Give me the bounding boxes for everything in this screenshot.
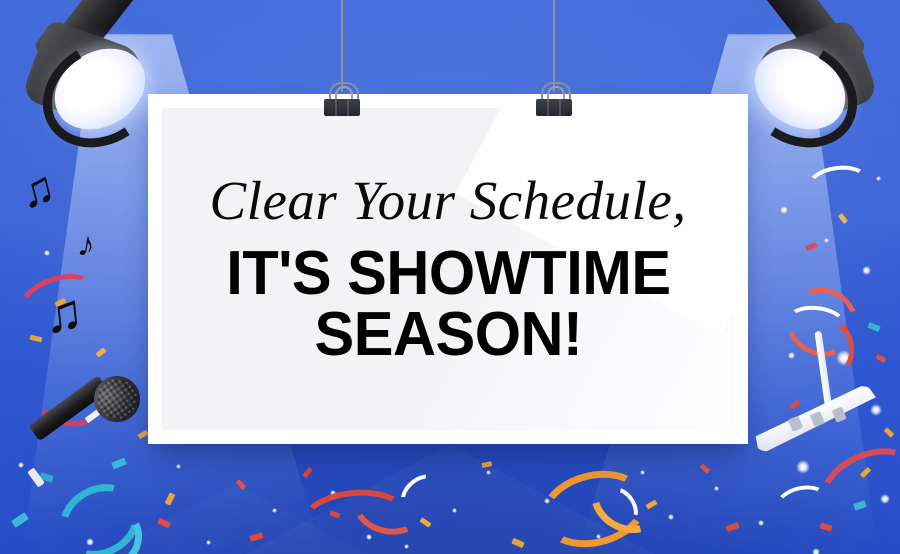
banner-panel: Clear Your Schedule, IT'S SHOWTIME SEASO… — [162, 108, 734, 430]
clip-body — [324, 99, 360, 116]
banner-poster: Clear Your Schedule, IT'S SHOWTIME SEASO… — [148, 94, 748, 444]
sparkle-dot — [788, 352, 795, 359]
sparkle-dot — [876, 176, 881, 181]
sparkle-dot — [452, 508, 457, 513]
sparkle-dot — [272, 508, 277, 513]
headline-bold-line1: IT'S SHOWTIME — [226, 239, 670, 308]
sparkle-dot — [668, 514, 674, 520]
microphone-icon — [32, 372, 152, 482]
spotlight-icon — [700, 0, 890, 129]
sparkle-dot — [44, 250, 50, 256]
spotlight-icon — [10, 0, 200, 129]
sparkle-dot — [486, 470, 491, 475]
sparkle-dot — [404, 544, 409, 549]
music-note-icon: ♫ — [41, 286, 85, 342]
binder-clip-icon — [320, 82, 364, 116]
sparkle-dot — [758, 520, 764, 526]
sparkle-dot — [18, 462, 24, 468]
sparkle-dot — [206, 540, 211, 545]
sparkle-dot — [714, 486, 719, 491]
hanging-wire-left — [341, 0, 343, 92]
sparkle-dot — [812, 548, 820, 554]
headline-bold: IT'S SHOWTIME SEASON! — [226, 244, 670, 364]
headline-bold-line2: SEASON! — [226, 305, 670, 365]
binder-clip-icon — [532, 82, 576, 116]
sparkle-dot — [862, 266, 871, 275]
hanging-wire-right — [553, 0, 555, 92]
sparkle-dot — [176, 464, 181, 469]
headline-script: Clear Your Schedule, — [210, 173, 687, 228]
sparkle-dot — [824, 238, 829, 243]
showtime-poster: ♫ ♪ ♫ Clear Your Schedule, IT'S SHOWTIME… — [0, 0, 900, 554]
clip-body — [536, 99, 572, 116]
sparkle-dot — [780, 206, 788, 214]
